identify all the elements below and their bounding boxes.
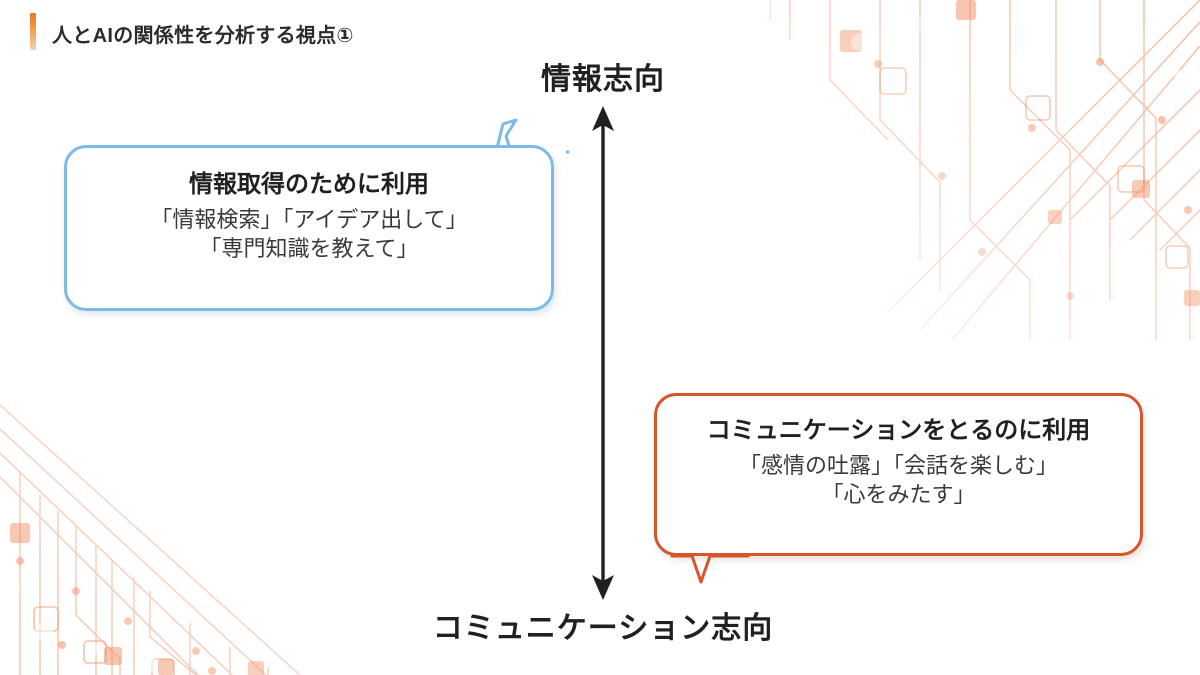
axis-label-top: 情報志向	[541, 54, 665, 98]
slide-canvas: 人とAIの関係性を分析する視点① 情報志向 コミュニケーション志向 情報取得のた…	[0, 0, 1200, 675]
callout-information-oriented: 情報取得のために利用 「情報検索」「アイデア出して」 「専門知識を教えて」	[64, 145, 554, 311]
callout-blue-line-1: 「情報検索」「アイデア出して」	[67, 206, 551, 235]
callout-blue-line-2: 「専門知識を教えて」	[67, 235, 551, 264]
callout-orange-line-1: 「感情の吐露」「会話を楽しむ」	[657, 452, 1140, 481]
callout-communication-oriented: コミュニケーションをとるのに利用 「感情の吐露」「会話を楽しむ」 「心をみたす」	[654, 393, 1143, 556]
circuit-decoration-bottom-left	[0, 375, 330, 675]
axis-label-bottom: コミュニケーション志向	[433, 603, 773, 647]
circuit-decoration-top-right	[770, 0, 1200, 340]
vertical-double-arrow-icon	[582, 106, 624, 600]
title-accent-bar	[30, 13, 36, 50]
page-title: 人とAIの関係性を分析する視点①	[52, 19, 354, 48]
callout-orange-headline: コミュニケーションをとるのに利用	[657, 416, 1140, 446]
callout-orange-line-2: 「心をみたす」	[657, 481, 1140, 510]
callout-blue-headline: 情報取得のために利用	[67, 170, 551, 200]
